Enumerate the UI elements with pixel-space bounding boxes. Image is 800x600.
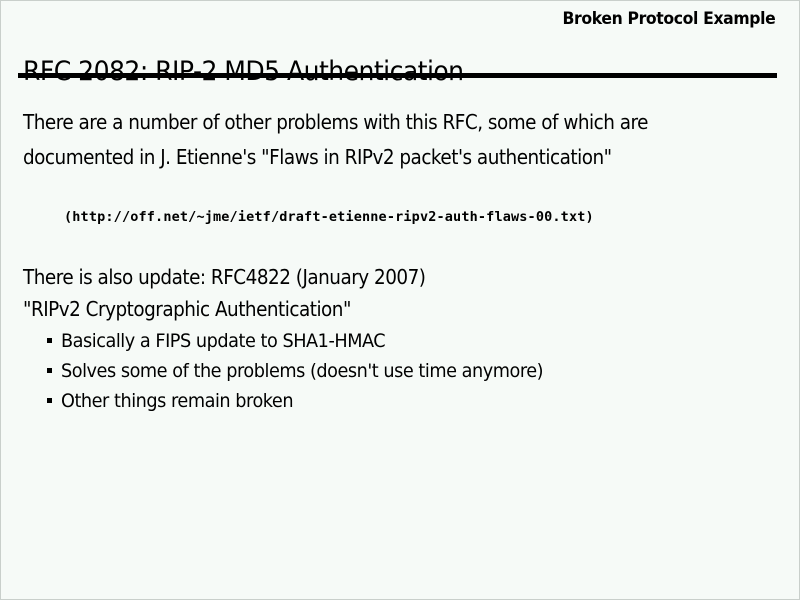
list-item: Basically a FIPS update to SHA1-HMAC xyxy=(47,329,579,359)
intro-paragraph-line-2: documented in J. Etienne's "Flaws in RIP… xyxy=(23,144,612,170)
reference-url-text: (http://off.net/~jme/ietf/draft-etienne-… xyxy=(64,208,594,226)
update-line-2: "RIPv2 Cryptographic Authentication" xyxy=(23,296,351,322)
list-item-label: Other things remain broken xyxy=(61,389,293,413)
update-line-1: There is also update: RFC4822 (January 2… xyxy=(23,264,425,290)
slide-body: There are a number of other problems wit… xyxy=(1,1,800,600)
bullet-list: Basically a FIPS update to SHA1-HMAC Sol… xyxy=(47,329,579,419)
list-item-label: Basically a FIPS update to SHA1-HMAC xyxy=(61,329,385,353)
list-item-label: Solves some of the problems (doesn't use… xyxy=(61,359,543,383)
square-bullet-icon xyxy=(47,398,52,403)
intro-paragraph-line-1: There are a number of other problems wit… xyxy=(23,109,648,135)
list-item: Solves some of the problems (doesn't use… xyxy=(47,359,579,389)
list-item: Other things remain broken xyxy=(47,389,579,419)
square-bullet-icon xyxy=(47,338,52,343)
presentation-slide: Broken Protocol Example RFC 2082: RIP-2 … xyxy=(0,0,800,600)
square-bullet-icon xyxy=(47,368,52,373)
